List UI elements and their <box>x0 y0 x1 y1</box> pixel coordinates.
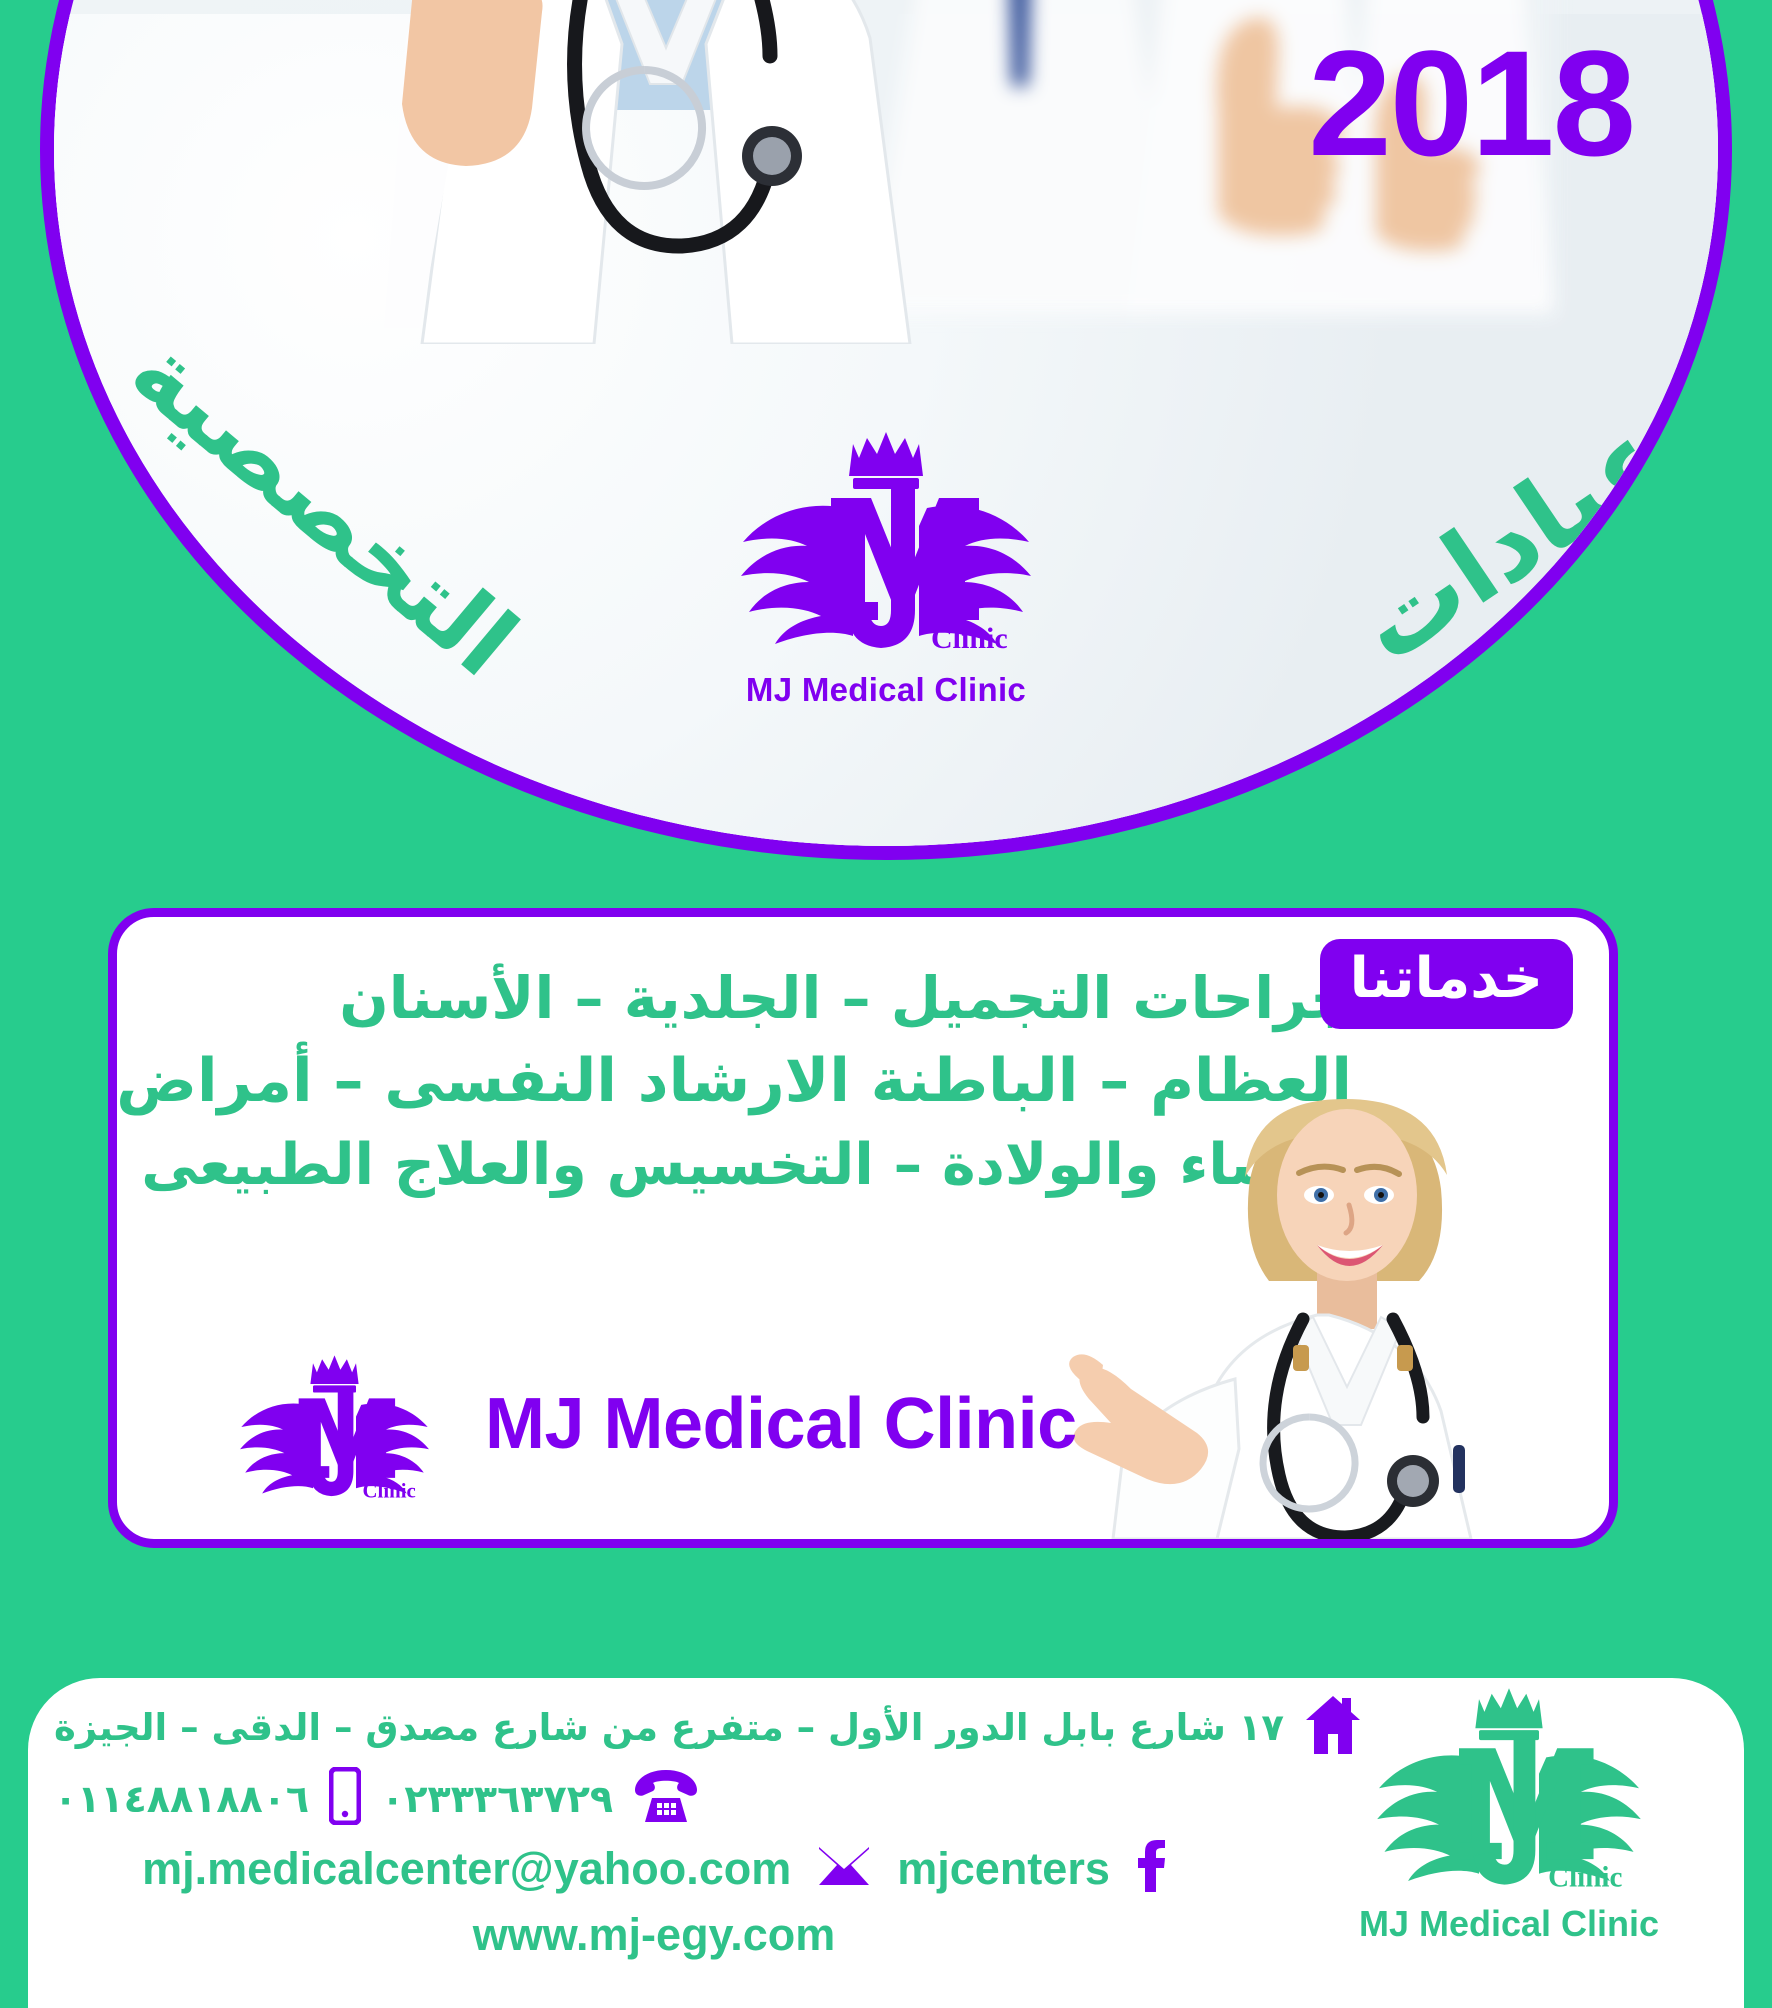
header-banner: Clinic MJ Medical Clinic التخصصية عيادات… <box>0 0 1772 880</box>
footer-contact-details: ١٧ شارع بابل الدور الأول – متفرع من شارع… <box>54 1694 1254 1961</box>
telephone-icon <box>633 1768 699 1829</box>
footer-logo: Clinic MJ Medical Clinic <box>1344 1686 1674 1945</box>
mobile-phone-icon <box>329 1767 361 1830</box>
coat-logo-label: MJ Medical Clinic <box>721 671 1051 709</box>
email-text[interactable]: mj.medicalcenter@yahoo.com <box>142 1843 791 1895</box>
header-arch-frame: Clinic MJ Medical Clinic التخصصية عيادات… <box>40 0 1732 860</box>
phones-row: ٠٢٣٣٣٦٣٧٢٩ ٠١١٤٨٨١٨٨٠٦ <box>54 1767 1254 1830</box>
mobile-number: ٠١١٤٨٨١٨٨٠٦ <box>54 1777 309 1821</box>
address-text: ١٧ شارع بابل الدور الأول – متفرع من شارع… <box>54 1706 1284 1749</box>
email-social-row: mj.medicalcenter@yahoo.com mjcenters <box>54 1840 1254 1897</box>
footer-logo-label: MJ Medical Clinic <box>1344 1903 1674 1945</box>
mj-winged-crown-logo-green: Clinic <box>1359 1686 1659 1896</box>
facebook-icon <box>1136 1840 1166 1897</box>
footer-logo-clinic-word: Clinic <box>1548 1861 1622 1893</box>
services-card: جراحات التجميل – الجلدية – الأسنان العظا… <box>108 908 1618 1548</box>
logo-clinic-word: Clinic <box>931 622 1008 655</box>
card-logo-clinic-word: Clinic <box>363 1478 416 1502</box>
card-brand-name: MJ Medical Clinic <box>485 1383 1077 1465</box>
facebook-handle[interactable]: mjcenters <box>897 1843 1110 1895</box>
services-badge: خدماتنا <box>1320 939 1573 1029</box>
envelope-icon <box>817 1845 871 1892</box>
service-line-1: جراحات التجميل – الجلدية – الأسنان <box>157 957 1352 1039</box>
website-text[interactable]: www.mj-egy.com <box>54 1909 1254 1961</box>
card-logo: Clinic <box>227 1354 442 1509</box>
presenting-doctor-photo <box>1045 1069 1585 1539</box>
landline-number: ٠٢٣٣٣٦٣٧٢٩ <box>381 1777 613 1821</box>
header-photo: Clinic MJ Medical Clinic التخصصية عيادات… <box>54 14 1718 860</box>
mj-winged-crown-logo-purple-card: Clinic <box>227 1354 442 1504</box>
lead-doctor-photo <box>384 0 944 344</box>
mj-winged-crown-logo-purple: Clinic <box>721 430 1051 660</box>
footer-contact-bar: ١٧ شارع بابل الدور الأول – متفرع من شارع… <box>28 1678 1744 2008</box>
year-label: 2018 <box>1308 28 1634 178</box>
address-row: ١٧ شارع بابل الدور الأول – متفرع من شارع… <box>54 1694 1254 1761</box>
coat-logo: Clinic MJ Medical Clinic <box>721 430 1051 709</box>
